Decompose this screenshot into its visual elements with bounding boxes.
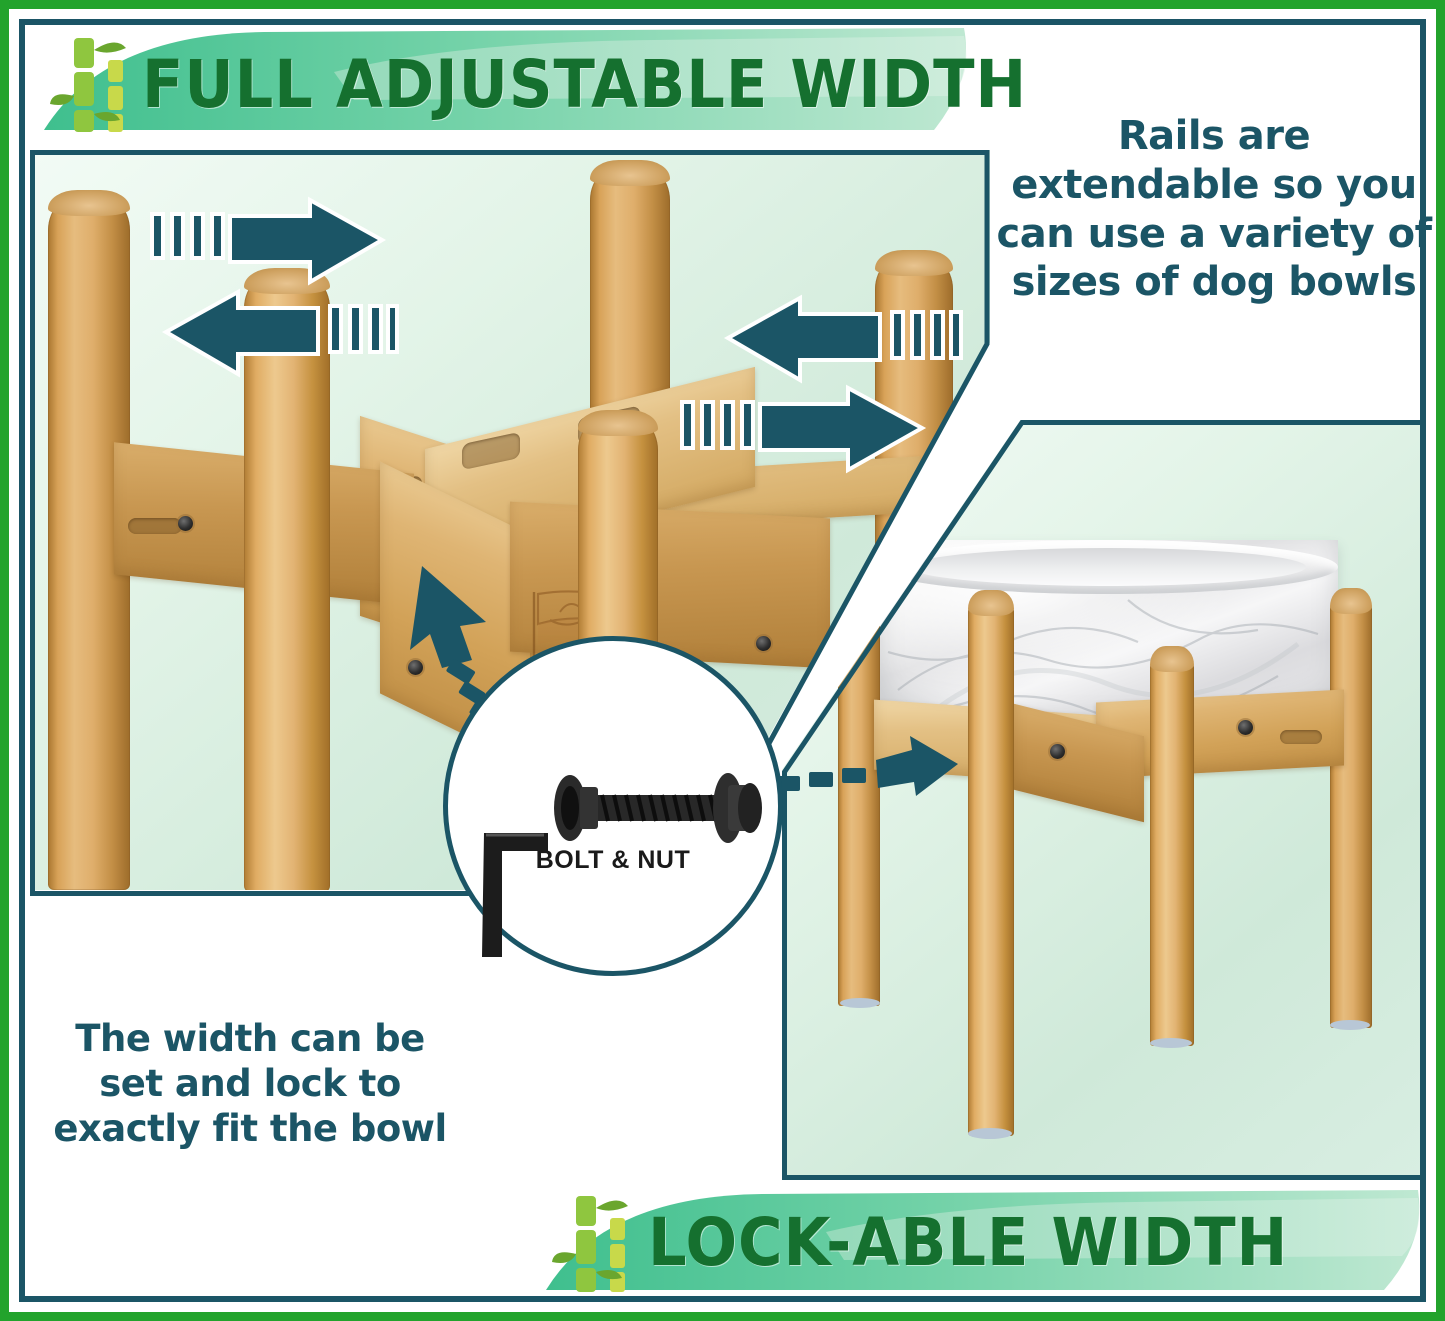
banner-full-adjustable-width: FULL ADJUSTABLE WIDTH [34, 26, 974, 134]
bolt-and-nut-callout: BOLT & NUT [443, 636, 783, 976]
banner-top-title: FULL ADJUSTABLE WIDTH [142, 46, 1027, 123]
callout-label: BOLT & NUT [448, 846, 778, 875]
copy-width-lock: The width can be set and lock to exactly… [40, 1016, 460, 1151]
product-infographic: BOLT & NUT [0, 0, 1445, 1321]
copy-rails-extendable: Rails are extendable so you can use a va… [996, 112, 1432, 307]
banner-lock-able-width: LOCK-ABLE WIDTH [536, 1186, 1426, 1294]
banner-bottom-title: LOCK-ABLE WIDTH [648, 1204, 1288, 1281]
bamboo-icon [550, 1190, 660, 1294]
panel-bowl-outline [782, 420, 1432, 1186]
